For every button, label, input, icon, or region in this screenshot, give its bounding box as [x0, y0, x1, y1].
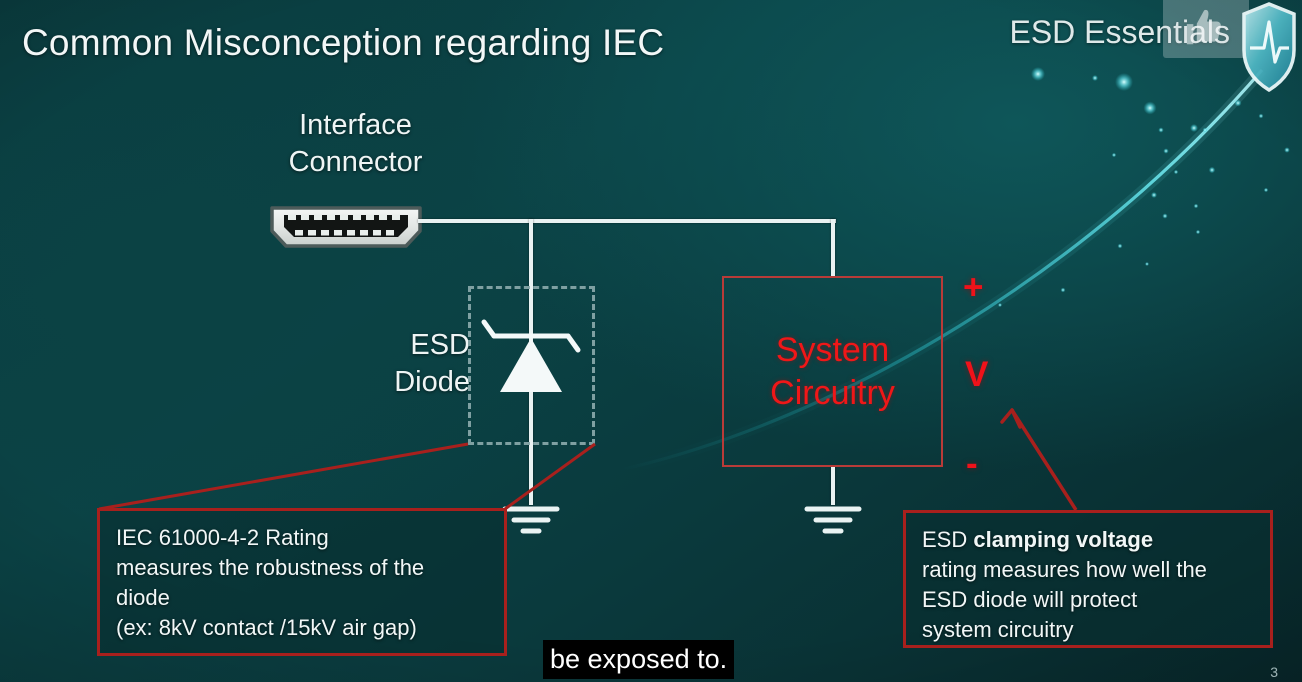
thumbs-up-icon[interactable]	[1163, 0, 1249, 58]
callout-right-line1: ESD clamping voltage	[922, 525, 1256, 555]
ground-symbol-right	[803, 500, 863, 542]
interface-connector-label-line1: Interface	[258, 107, 453, 144]
esd-diode-label-line1: ESD	[330, 327, 470, 364]
wire-horizontal-main	[418, 219, 836, 223]
polarity-voltage-label: V	[965, 355, 988, 395]
callout-right-line2: rating measures how well the	[922, 555, 1256, 585]
callout-iec-rating: IEC 61000-4-2 Rating measures the robust…	[97, 508, 507, 656]
interface-connector-label-line2: Connector	[258, 144, 453, 181]
system-circuitry-line2: Circuitry	[770, 373, 895, 413]
callout-clamping-voltage: ESD clamping voltage rating measures how…	[903, 510, 1273, 648]
callout-right-emphasis: clamping voltage	[973, 527, 1153, 552]
slide-canvas: Common Misconception regarding IEC ESD E…	[0, 0, 1302, 682]
shield-heartbeat-logo	[1238, 0, 1300, 100]
tvs-zener-diode-symbol	[470, 300, 595, 410]
system-circuitry-block: System Circuitry	[722, 276, 943, 467]
hdmi-connector-icon	[266, 203, 426, 251]
callout-left-line2: measures the robustness of the	[116, 553, 490, 583]
video-subtitle: be exposed to.	[543, 640, 734, 679]
polarity-minus-label: -	[966, 444, 978, 484]
ground-symbol-left	[501, 500, 561, 542]
wire-vertical-to-system-top	[831, 219, 835, 277]
callout-left-line4: (ex: 8kV contact /15kV air gap)	[116, 613, 490, 643]
callout-right-line3: ESD diode will protect	[922, 585, 1256, 615]
page-number: 3	[1270, 664, 1278, 680]
callout-right-prefix: ESD	[922, 527, 973, 552]
slide-title: Common Misconception regarding IEC	[22, 22, 664, 64]
callout-left-line3: diode	[116, 583, 490, 613]
esd-diode-label: ESD Diode	[330, 327, 470, 401]
esd-diode-label-line2: Diode	[330, 364, 470, 401]
callout-left-line1: IEC 61000-4-2 Rating	[116, 523, 490, 553]
interface-connector-label: Interface Connector	[258, 107, 453, 181]
callout-right-line4: system circuitry	[922, 615, 1256, 645]
system-circuitry-line1: System	[776, 330, 889, 370]
polarity-plus-label: +	[963, 268, 983, 308]
